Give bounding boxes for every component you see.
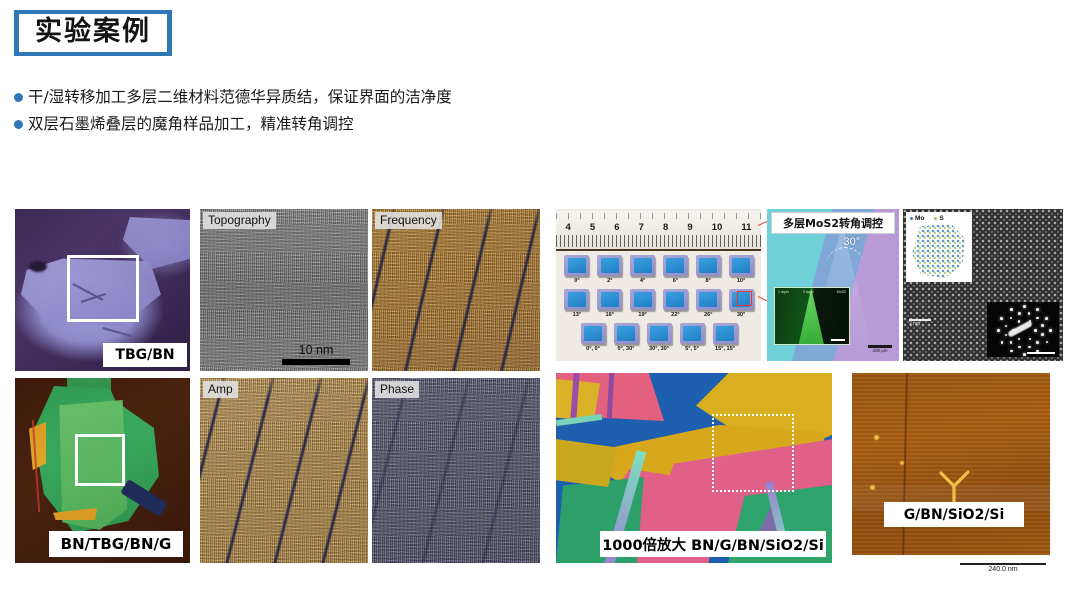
chip-row-3: 0°, 0°0°, 30°30°, 30°5°, 5°15°, 15° [578,323,740,352]
chip-flake [601,292,619,307]
diffraction-spot [1010,350,1013,353]
afm-topography-panel: Topography 10 nm [200,209,368,371]
chip-angle-label: 8° [706,278,711,284]
diffraction-spot [1005,325,1008,328]
scalebar-label: 200 μm [868,348,892,353]
ruler-number: 7 [639,222,644,233]
diffraction-spot [1045,317,1048,320]
ruler-number: 10 [712,222,723,233]
tem-legend: Mo S [910,213,969,224]
diffraction-spot [1028,312,1031,315]
legend-swatch-icon [934,217,937,220]
particle [870,485,875,490]
sample-chip: 5°, 5° [677,323,707,352]
sample-chip: 19° [628,289,658,318]
diffraction-pattern-inset [987,302,1059,357]
chip-body [713,323,738,344]
chip-body [597,289,622,310]
chip-body [597,255,622,276]
chip-body [564,255,589,276]
diffraction-spot [1010,308,1013,311]
bullet-text: 双层石墨烯叠层的魔角样品加工，精准转角调控 [28,113,354,135]
diffraction-spot [1018,320,1021,323]
crack-line [103,327,132,337]
diffraction-spot [1023,353,1026,356]
chip-body [647,323,672,344]
scalebar-bar [960,563,1046,565]
panel-caption: 1000倍放大 BN/G/BN/SiO2/Si [600,531,826,557]
sample-chip: 0°, 30° [611,323,641,352]
particle [900,461,904,465]
chip-angle-label: 16° [606,312,614,318]
mos2-twist-panel: 30° 多层MoS2转角调控 1 layer 2 layer MoS2 200 … [767,209,899,361]
sample-chip: 4° [628,255,658,284]
diffraction-spot [1041,333,1044,336]
inset-scalebar [1027,352,1055,355]
sample-chip: 22° [660,289,690,318]
micrograph-tbg-bn: TBG/BN [15,209,190,371]
chip-body [680,323,705,344]
particle [874,435,879,440]
panel-caption: G/BN/SiO2/Si [884,502,1024,527]
chip-angle-label: 22° [671,312,679,318]
chip-angle-label: 13° [573,312,581,318]
flake-region [556,439,618,487]
legend-label: Mo [915,215,924,222]
diffraction-spot [1018,312,1021,315]
diffraction-spot [1018,338,1021,341]
diffraction-spot [1036,341,1039,344]
ruler-number: 4 [566,222,571,233]
ruler-number: 5 [590,222,595,233]
diffraction-spot [1034,329,1037,332]
diffraction-spot [1036,308,1039,311]
sample-chip: 8° [693,255,723,284]
chip-angle-label: 30°, 30° [649,346,669,352]
diffraction-spot [1005,334,1008,337]
chip-body [630,255,655,276]
scalebar-bar [282,359,350,365]
chip-angle-label: 10° [737,278,745,284]
chip-angle-label: 30° [737,312,745,318]
chip-body [663,289,688,310]
afm-g-bn-sio2-si-panel: G/BN/SiO2/Si 240.0 nm [852,373,1050,555]
diffraction-spot [1028,346,1031,349]
ruler-number: 8 [663,222,668,233]
mos2-panel-title: 多层MoS2转角调控 [771,212,895,234]
chip-flake [568,292,586,307]
ruler-numbers: 4567891011 [556,219,761,235]
chip-body [696,255,721,276]
tem-model-inset: Mo S [906,212,972,282]
sample-chip: 0°, 0° [578,323,608,352]
chip-row-2: 13°16°19°22°26°30° [562,289,756,318]
chip-angle-label: 5°, 5° [685,346,699,352]
chip-flake [634,258,652,273]
chip-body [696,289,721,310]
wrinkle-feature [938,469,972,503]
diffraction-spot [1010,341,1013,344]
tem-atomic-panel: Mo S 2 nm [903,209,1063,361]
sample-chip: 13° [562,289,592,318]
sample-chip: 2° [595,255,625,284]
chip-flake [732,258,750,273]
panel-caption: BN/TBG/BN/G [49,531,183,557]
inset-label: 1 layer [778,290,789,294]
diffraction-spot [1000,317,1003,320]
afm-panel-label: Frequency [375,212,442,229]
chip-angle-label: 0° [574,278,579,284]
inset-label: 2 layer [803,290,814,294]
diffraction-spot [997,329,1000,332]
list-item: 双层石墨烯叠层的魔角样品加工，精准转角调控 [14,113,814,135]
chip-flake [716,326,734,341]
diffraction-spot [1029,320,1032,323]
chip-angle-label: 26° [704,312,712,318]
roi-box [737,291,752,306]
mos2-fluorescence-inset: 1 layer 2 layer MoS2 [774,287,850,345]
chip-flake [601,258,619,273]
legend-label: S [939,215,943,222]
chip-angle-label: 6° [673,278,678,284]
bullet-dot-icon [14,93,23,102]
legend-item-s: S [934,215,943,222]
scalebar-label: 2 nm [909,321,931,327]
scalebar: 200 μm [868,345,892,353]
roi-box [67,255,139,322]
sample-chip: 26° [693,289,723,318]
chip-flake [666,258,684,273]
sample-chip: 10° [726,255,756,284]
diffraction-spot [1036,350,1039,353]
chip-flake [568,258,586,273]
inset-label: MoS2 [837,290,846,294]
chip-body [581,323,606,344]
chip-body [564,289,589,310]
diffraction-spot [1049,329,1052,332]
diffraction-spot [1041,324,1044,327]
chip-flake [699,258,717,273]
roi-box [75,434,125,486]
triangle-flake [799,288,824,344]
chip-angle-label: 19° [638,312,646,318]
afm-phase-panel: Phase [372,378,540,563]
chip-angle-label: 15°, 15° [715,346,735,352]
chip-flake [666,292,684,307]
ruler-number: 6 [614,222,619,233]
scalebar: 2 nm [909,319,931,328]
chip-body [663,255,688,276]
afm-frequency-panel: Frequency [372,209,540,371]
chip-flake [650,326,668,341]
diffraction-spot [1036,317,1039,320]
afm-panel-label: Phase [375,381,419,398]
scalebar-label: 10 nm [299,343,334,357]
sample-array-photo: 4567891011 0°2°4°6°8°10° 13°16°19°22°26°… [556,209,761,361]
micrograph-1000x: 1000倍放大 BN/G/BN/SiO2/Si [556,373,832,563]
angle-label: 30° [844,236,861,248]
legend-swatch-icon [910,217,913,220]
sample-chip: 6° [660,255,690,284]
chip-flake [634,292,652,307]
atomic-model [911,224,967,279]
scalebar: 10 nm [280,343,352,365]
chip-angle-label: 0°, 30° [618,346,635,352]
chip-flake [683,326,701,341]
chip-angle-label: 0°, 0° [586,346,600,352]
moire-stripes [372,209,540,371]
chip-flake [617,326,635,341]
slide-title-box: 实验案例 [14,10,172,56]
diffraction-spot [1029,338,1032,341]
ruler-ticks [556,235,761,247]
chip-angle-label: 4° [640,278,645,284]
ruler: 4567891011 [556,211,761,251]
ruler-number: 11 [741,222,751,233]
afm-panel-label: Topography [203,212,276,229]
sample-chip: 0° [562,255,592,284]
chip-flake [584,326,602,341]
chip-flake [699,292,717,307]
dark-spot [29,261,47,272]
bullet-list: 干/湿转移加工多层二维材料范德华异质结，保证界面的洁净度 双层石墨烯叠层的魔角样… [14,86,814,140]
afm-panel-label: Amp [203,381,238,398]
diffraction-spot [1001,341,1004,344]
scalebar: 240.0 nm [960,563,1046,573]
afm-scanlines [852,373,1050,555]
chip-angle-label: 2° [607,278,612,284]
sample-chip: 16° [595,289,625,318]
afm-amp-panel: Amp [200,378,368,563]
chip-row-1: 0°2°4°6°8°10° [562,255,756,284]
moire-stripes [372,378,540,563]
diffraction-spot [1046,341,1049,344]
chip-body [729,255,754,276]
sample-chip: 15°, 15° [710,323,740,352]
diffraction-spot [1018,346,1021,349]
slide-title-inner: 实验案例 [19,14,167,52]
moire-stripes [200,378,368,563]
ruler-number: 9 [687,222,692,233]
diffraction-spot [1010,317,1013,320]
chip-body [614,323,639,344]
scalebar-label: 240.0 nm [988,566,1017,573]
panel-caption: TBG/BN [103,343,187,367]
diffraction-spot [1012,329,1015,332]
roi-box [712,414,794,492]
bullet-text: 干/湿转移加工多层二维材料范德华异质结，保证界面的洁净度 [28,86,452,108]
bullet-dot-icon [14,120,23,129]
list-item: 干/湿转移加工多层二维材料范德华异质结，保证界面的洁净度 [14,86,814,108]
inset-scalebar [831,339,845,341]
chip-body [630,289,655,310]
sample-chip: 30°, 30° [644,323,674,352]
micrograph-bn-tbg-bn-g: BN/TBG/BN/G [15,378,190,563]
legend-item-mo: Mo [910,215,924,222]
diffraction-spot [1023,305,1026,308]
page-title: 实验案例 [35,16,151,48]
